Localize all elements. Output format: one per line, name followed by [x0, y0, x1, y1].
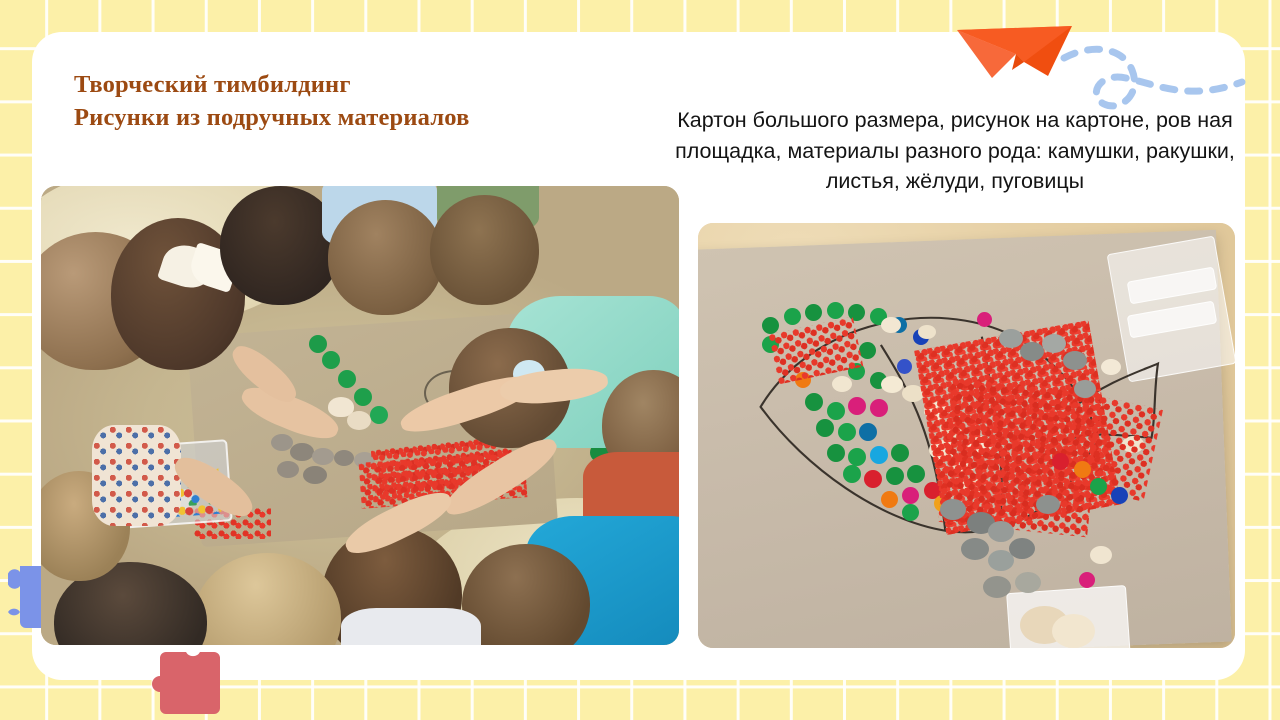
photo-fish-mosaic-frame: [698, 223, 1235, 648]
slide-title: Творческий тимбилдинг Рисунки из подручн…: [74, 68, 614, 134]
slide-title-line-1: Творческий тимбилдинг: [74, 68, 614, 101]
photo-children-teamwork-frame: [41, 186, 679, 645]
photo-children-teamwork: [41, 186, 679, 645]
photo-fish-mosaic: [698, 223, 1235, 648]
slide-title-line-2: Рисунки из подручных материалов: [74, 101, 614, 134]
photo-fish-mosaic-content: [698, 223, 1235, 648]
puzzle-piece-red-icon: [150, 650, 220, 716]
photo-fish-mosaic-reflection: [698, 648, 1235, 720]
photo-children-teamwork-reflection: [41, 645, 679, 717]
slide-description: Картон большого размера, рисунок на карт…: [655, 105, 1255, 197]
photo-children-teamwork-content: [41, 186, 679, 645]
